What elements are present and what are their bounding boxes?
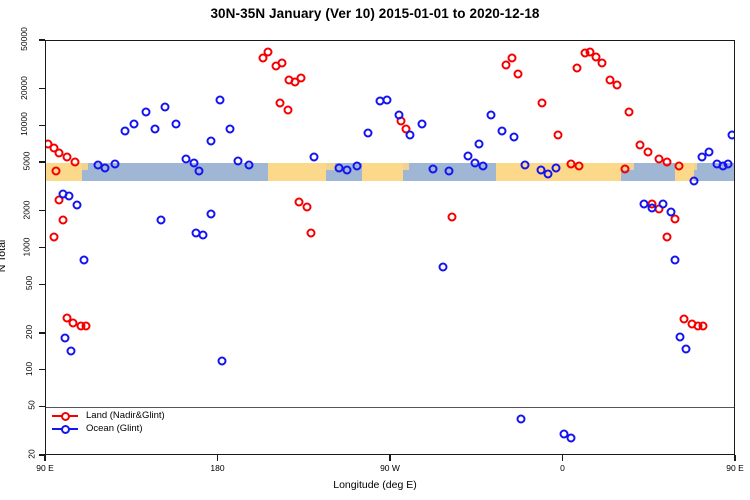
scatter-point-ocean (310, 153, 319, 162)
scatter-point-land (643, 147, 652, 156)
scatter-point-ocean (206, 136, 215, 145)
y-tick-mark (39, 332, 45, 333)
scatter-point-ocean (383, 95, 392, 104)
scatter-point-ocean (342, 165, 351, 174)
scatter-point-ocean (670, 256, 679, 265)
scatter-point-ocean (218, 356, 227, 365)
x-tick-mark (44, 455, 45, 461)
scatter-point-ocean (509, 132, 518, 141)
legend-item-ocean[interactable]: Ocean (Glint) (50, 422, 165, 435)
scatter-point-ocean (479, 162, 488, 171)
y-tick-label: 2000 (0, 205, 36, 215)
scatter-point-ocean (567, 434, 576, 443)
x-tick-label: 90 W (380, 463, 400, 473)
scatter-point-ocean (195, 167, 204, 176)
surface-type-band (46, 163, 734, 181)
scatter-point-land (275, 99, 284, 108)
y-tick-mark (39, 39, 45, 40)
scatter-point-ocean (486, 110, 495, 119)
y-tick-label: 200 (0, 327, 36, 337)
scatter-point-ocean (72, 201, 81, 210)
x-tick-mark (734, 455, 735, 461)
scatter-point-land (264, 47, 273, 56)
plot-area (45, 40, 735, 455)
scatter-point-ocean (724, 160, 733, 169)
scatter-point-ocean (245, 161, 254, 170)
scatter-point-land (277, 59, 286, 68)
y-tick-mark (39, 369, 45, 370)
scatter-point-ocean (406, 130, 415, 139)
scatter-point-land (59, 216, 68, 225)
scatter-point-ocean (80, 256, 89, 265)
scatter-point-ocean (65, 191, 74, 200)
scatter-point-land (613, 80, 622, 89)
x-tick-label: 180 (210, 463, 224, 473)
y-tick-mark (39, 247, 45, 248)
scatter-point-ocean (141, 108, 150, 117)
land-segment (362, 163, 402, 181)
legend-marker-icon (50, 422, 80, 435)
scatter-point-land (283, 106, 292, 115)
scatter-point-ocean (676, 332, 685, 341)
y-tick-label: 5000 (0, 156, 36, 166)
y-tick-mark (39, 406, 45, 407)
scatter-point-ocean (66, 346, 75, 355)
coastline-detail (81, 163, 88, 170)
x-tick-mark (217, 455, 218, 461)
scatter-point-ocean (199, 230, 208, 239)
scatter-point-land (620, 164, 629, 173)
scatter-point-ocean (689, 176, 698, 185)
scatter-point-ocean (544, 169, 553, 178)
scatter-point-ocean (475, 139, 484, 148)
scatter-point-ocean (216, 95, 225, 104)
scatter-point-ocean (517, 415, 526, 424)
y-tick-mark (39, 88, 45, 89)
scatter-point-land (513, 69, 522, 78)
legend-marker-icon (50, 409, 80, 422)
scatter-point-land (296, 73, 305, 82)
scatter-point-ocean (463, 152, 472, 161)
scatter-point-land (538, 99, 547, 108)
scatter-point-ocean (394, 110, 403, 119)
scatter-point-ocean (364, 129, 373, 138)
scatter-point-ocean (206, 210, 215, 219)
y-axis-title: N Total (0, 240, 8, 273)
x-tick-mark (562, 455, 563, 461)
scatter-point-ocean (666, 207, 675, 216)
scatter-point-land (448, 213, 457, 222)
scatter-point-ocean (160, 102, 169, 111)
scatter-point-land (663, 232, 672, 241)
coastline-detail (402, 163, 409, 170)
scatter-point-land (49, 232, 58, 241)
scatter-point-land (663, 158, 672, 167)
y-tick-mark (39, 284, 45, 285)
scatter-point-land (699, 322, 708, 331)
y-tick-label: 10000 (0, 119, 36, 129)
coastline-detail (325, 163, 335, 170)
scatter-point-land (674, 162, 683, 171)
scatter-point-land (302, 202, 311, 211)
scatter-point-ocean (521, 161, 530, 170)
scatter-point-ocean (130, 119, 139, 128)
y-tick-label: 500 (0, 278, 36, 288)
scatter-point-land (597, 59, 606, 68)
land-segment (268, 163, 326, 181)
scatter-point-ocean (429, 164, 438, 173)
scatter-point-land (574, 162, 583, 171)
scatter-point-land (82, 322, 91, 331)
y-tick-mark (39, 125, 45, 126)
scatter-point-ocean (417, 119, 426, 128)
scatter-point-ocean (61, 334, 70, 343)
x-tick-label: 90 E (36, 463, 54, 473)
y-tick-label: 20000 (0, 83, 36, 93)
y-tick-mark (39, 210, 45, 211)
scatter-point-ocean (438, 263, 447, 272)
scatter-point-ocean (172, 119, 181, 128)
scatter-point-ocean (157, 216, 166, 225)
scatter-point-ocean (659, 200, 668, 209)
legend-label: Ocean (Glint) (86, 422, 143, 435)
scatter-point-land (70, 158, 79, 167)
scatter-point-ocean (233, 157, 242, 166)
scatter-point-ocean (728, 130, 735, 139)
scatter-point-land (624, 108, 633, 117)
scatter-point-ocean (705, 147, 714, 156)
scatter-point-ocean (551, 163, 560, 172)
legend: Land (Nadir&Glint)Ocean (Glint) (50, 409, 165, 435)
scatter-point-ocean (444, 167, 453, 176)
x-tick-label: 90 E (726, 463, 744, 473)
scatter-point-land (306, 228, 315, 237)
scatter-point-land (51, 167, 60, 176)
scatter-point-ocean (647, 203, 656, 212)
chart-root: 30N-35N January (Ver 10) 2015-01-01 to 2… (0, 0, 750, 500)
scatter-point-land (553, 130, 562, 139)
scatter-point-ocean (151, 125, 160, 134)
scatter-point-ocean (352, 162, 361, 171)
legend-label: Land (Nadir&Glint) (86, 409, 165, 422)
scatter-point-ocean (111, 159, 120, 168)
x-axis-title: Longitude (deg E) (0, 479, 750, 491)
y-tick-label: 20 (0, 449, 36, 459)
y-tick-label: 50000 (0, 34, 36, 44)
scatter-point-ocean (498, 126, 507, 135)
legend-item-land[interactable]: Land (Nadir&Glint) (50, 409, 165, 422)
chart-title: 30N-35N January (Ver 10) 2015-01-01 to 2… (0, 6, 750, 21)
scatter-point-ocean (226, 124, 235, 133)
y-tick-mark (39, 161, 45, 162)
x-tick-mark (389, 455, 390, 461)
scatter-point-land (507, 54, 516, 63)
scatter-point-ocean (101, 163, 110, 172)
scatter-point-ocean (120, 126, 129, 135)
scatter-point-ocean (682, 345, 691, 354)
scatter-point-land (572, 64, 581, 73)
coastline-detail (693, 163, 697, 170)
x-tick-label: 0 (560, 463, 565, 473)
y-tick-label: 100 (0, 364, 36, 374)
y-tick-label: 50 (0, 400, 36, 410)
